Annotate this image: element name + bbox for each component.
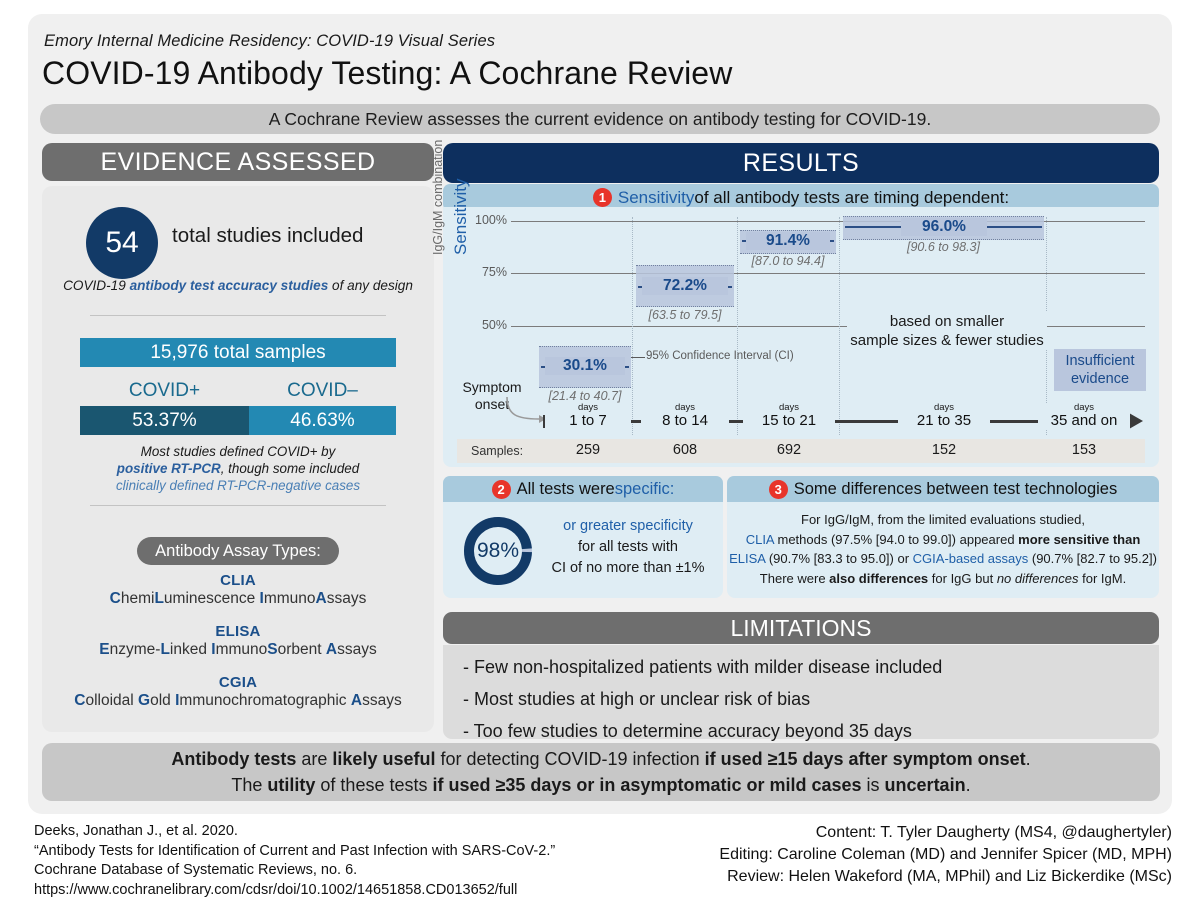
chart-xtick-4: days 21 to 35 bbox=[898, 403, 990, 429]
samples-row-label: Samples: bbox=[471, 444, 523, 458]
pcr-definition-note: Most studies defined COVID+ by positive … bbox=[56, 443, 420, 494]
total-samples-bar: 15,976 total samples bbox=[80, 338, 396, 367]
chart-value-3: 91.4% bbox=[746, 232, 830, 250]
credits-review: Review: Helen Wakeford (MA, MPhil) and L… bbox=[600, 866, 1172, 888]
chart-xtick-2: days 8 to 14 bbox=[641, 403, 729, 429]
citation-url[interactable]: https://www.cochranelibrary.com/cdsr/doi… bbox=[34, 881, 654, 901]
assay-clia-full: ChemiLuminescence ImmunoAssays bbox=[42, 590, 434, 608]
citation-line-2: “Antibody Tests for Identification of Cu… bbox=[34, 842, 654, 862]
pcr-note-line2: , though some included bbox=[221, 461, 359, 476]
panel3-line-3: ELISA (90.7% [83.3 to 95.0]) or CGIA-bas… bbox=[727, 549, 1159, 569]
divider-1 bbox=[90, 315, 386, 316]
samples-value-5: 153 bbox=[1038, 442, 1130, 458]
subtitle-banner: A Cochrane Review assesses the current e… bbox=[40, 104, 1160, 134]
panel3-title: Some differences between test technologi… bbox=[794, 480, 1117, 499]
panel1-title-rest: of all antibody tests are timing depende… bbox=[694, 188, 1009, 208]
assay-clia-abbr: CLIA bbox=[42, 572, 434, 589]
chart-insufficient-evidence-badge: Insufficient evidence bbox=[1054, 349, 1146, 391]
panel3-line-1: For IgG/IgM, from the limited evaluation… bbox=[727, 510, 1159, 530]
assay-elisa: ELISA Enzyme-Linked ImmunoSorbent Assays bbox=[42, 623, 434, 659]
studies-count-value: 54 bbox=[105, 226, 138, 260]
specificity-description: or greater specificity for all tests wit… bbox=[539, 516, 717, 579]
evidence-assessed-header: EVIDENCE ASSESSED bbox=[42, 143, 434, 181]
chart-xtick-3: days 15 to 21 bbox=[743, 403, 835, 429]
assay-elisa-abbr: ELISA bbox=[42, 623, 434, 640]
divider-2 bbox=[90, 505, 386, 506]
chart-yaxis-sublabel: IgG/IgM combination bbox=[431, 140, 445, 255]
studies-count-badge: 54 bbox=[86, 207, 158, 279]
limitations-header: LIMITATIONS bbox=[443, 612, 1159, 644]
panel2-header: 2All tests were specific: bbox=[443, 476, 723, 502]
results-label: RESULTS bbox=[743, 149, 859, 178]
panel2-badge: 2 bbox=[492, 480, 511, 499]
panel1-badge: 1 bbox=[593, 188, 612, 207]
takeaway-line-1: Antibody tests are likely useful for det… bbox=[171, 746, 1030, 772]
covid-negative-value: 46.63% bbox=[290, 410, 354, 432]
citation-line-1: Deeks, Jonathan J., et al. 2020. bbox=[34, 822, 654, 842]
credits-editing: Editing: Caroline Coleman (MD) and Jenni… bbox=[600, 844, 1172, 866]
panel2-title-pre: All tests were bbox=[517, 480, 615, 499]
studies-count-label: total studies included bbox=[172, 224, 422, 248]
chart-ci-label-1: [21.4 to 40.7] bbox=[539, 389, 631, 403]
design-note-pre: COVID-19 bbox=[63, 278, 129, 293]
assay-cgia-abbr: CGIA bbox=[42, 674, 434, 691]
chart-xtick-5: days 35 and on bbox=[1038, 403, 1130, 429]
chart-gridline-75 bbox=[511, 273, 1145, 274]
chart-ci-label-3: [87.0 to 94.4] bbox=[740, 254, 836, 268]
limitations-label: LIMITATIONS bbox=[731, 615, 872, 642]
infographic-poster: Emory Internal Medicine Residency: COVID… bbox=[0, 0, 1200, 921]
covid-positive-value: 53.37% bbox=[132, 410, 196, 432]
panel3-badge: 3 bbox=[769, 480, 788, 499]
limitation-item-1: - Few non-hospitalized patients with mil… bbox=[463, 657, 942, 678]
covid-negative-bar: 46.63% bbox=[249, 406, 396, 435]
assay-cgia: CGIA Colloidal Gold Immunochromatographi… bbox=[42, 674, 434, 710]
total-samples-value: 15,976 total samples bbox=[150, 342, 325, 364]
page-title: COVID-19 Antibody Testing: A Cochrane Re… bbox=[42, 55, 1042, 92]
panel3-line-2: CLIA methods (97.5% [94.0 to 99.0]) appe… bbox=[727, 530, 1159, 550]
evidence-assessed-label: EVIDENCE ASSESSED bbox=[101, 148, 376, 177]
limitations-panel: - Few non-hospitalized patients with mil… bbox=[443, 645, 1159, 739]
assay-elisa-full: Enzyme-Linked ImmunoSorbent Assays bbox=[42, 641, 434, 659]
sensitivity-chart: IgG/IgM combination Sensitivity 100% 75%… bbox=[443, 207, 1159, 467]
panel3-line-4: There were also differences for IgG but … bbox=[727, 569, 1159, 589]
chart-ci-legend-leader bbox=[631, 357, 645, 358]
chart-separator-3 bbox=[839, 217, 840, 435]
chart-value-1: 30.1% bbox=[545, 357, 625, 375]
chart-value-2: 72.2% bbox=[642, 277, 728, 295]
credits-content: Content: T. Tyler Daugherty (MS4, @daugh… bbox=[600, 822, 1172, 844]
samples-value-3: 692 bbox=[743, 442, 835, 458]
study-design-note: COVID-19 antibody test accuracy studies … bbox=[52, 278, 424, 293]
results-header: RESULTS bbox=[443, 143, 1159, 183]
samples-value-2: 608 bbox=[641, 442, 729, 458]
series-kicker: Emory Internal Medicine Residency: COVID… bbox=[44, 32, 944, 51]
covid-positive-label: COVID+ bbox=[80, 380, 249, 402]
panel3-header: 3Some differences between test technolog… bbox=[727, 476, 1159, 502]
covid-positive-bar: 53.37% bbox=[80, 406, 249, 435]
limitation-item-3: - Too few studies to determine accuracy … bbox=[463, 721, 912, 742]
subtitle-text: A Cochrane Review assesses the current e… bbox=[269, 109, 931, 130]
pcr-note-line3: clinically defined RT-PCR-negative cases bbox=[116, 478, 360, 493]
covid-negative-label: COVID– bbox=[249, 380, 396, 402]
specificity-donut-value: 98% bbox=[461, 514, 535, 588]
pcr-note-line1: Most studies defined COVID+ by bbox=[141, 444, 336, 459]
takeaway-banner: Antibody tests are likely useful for det… bbox=[42, 743, 1160, 801]
takeaway-line-2: The utility of these tests if used ≥35 d… bbox=[231, 772, 970, 798]
chart-xtick-1: days 1 to 7 bbox=[545, 403, 631, 429]
credits-block: Content: T. Tyler Daugherty (MS4, @daugh… bbox=[600, 822, 1172, 888]
assay-types-label: Antibody Assay Types: bbox=[155, 542, 321, 561]
chart-ytick-100: 100% bbox=[463, 213, 507, 227]
samples-value-1: 259 bbox=[545, 442, 631, 458]
chart-value-4: 96.0% bbox=[901, 218, 987, 236]
chart-ci-label-4: [90.6 to 98.3] bbox=[843, 240, 1044, 254]
design-note-post: of any design bbox=[328, 278, 413, 293]
samples-value-4: 152 bbox=[898, 442, 990, 458]
citation-block: Deeks, Jonathan J., et al. 2020. “Antibo… bbox=[34, 822, 654, 900]
panel2-body: 98% or greater specificity for all tests… bbox=[443, 502, 723, 598]
chart-gridline-50 bbox=[511, 326, 1145, 327]
design-note-highlight: antibody test accuracy studies bbox=[130, 278, 329, 293]
assay-clia: CLIA ChemiLuminescence ImmunoAssays bbox=[42, 572, 434, 608]
chart-axis-arrow-icon bbox=[1129, 413, 1143, 429]
chart-separator-2 bbox=[737, 217, 738, 435]
panel3-body: For IgG/IgM, from the limited evaluation… bbox=[727, 502, 1159, 598]
assay-cgia-full: Colloidal Gold Immunochromatographic Ass… bbox=[42, 692, 434, 710]
citation-line-3: Cochrane Database of Systematic Reviews,… bbox=[34, 861, 654, 881]
chart-ci-label-2: [63.5 to 79.5] bbox=[636, 308, 734, 322]
panel1-title-highlight: Sensitivity bbox=[618, 188, 695, 208]
chart-ytick-50: 50% bbox=[463, 318, 507, 332]
chart-ci-legend-label: 95% Confidence Interval (CI) bbox=[646, 350, 794, 362]
chart-gridline-100 bbox=[511, 221, 1145, 222]
chart-sparse-data-note: based on smaller sample sizes & fewer st… bbox=[847, 312, 1047, 350]
pcr-note-highlight: positive RT-PCR bbox=[117, 461, 221, 476]
panel2-title-highlight: specific: bbox=[615, 480, 675, 499]
chart-ytick-75: 75% bbox=[463, 265, 507, 279]
chart-separator-1 bbox=[632, 217, 633, 435]
assay-types-pill: Antibody Assay Types: bbox=[137, 537, 339, 565]
limitation-item-2: - Most studies at high or unclear risk o… bbox=[463, 689, 810, 710]
